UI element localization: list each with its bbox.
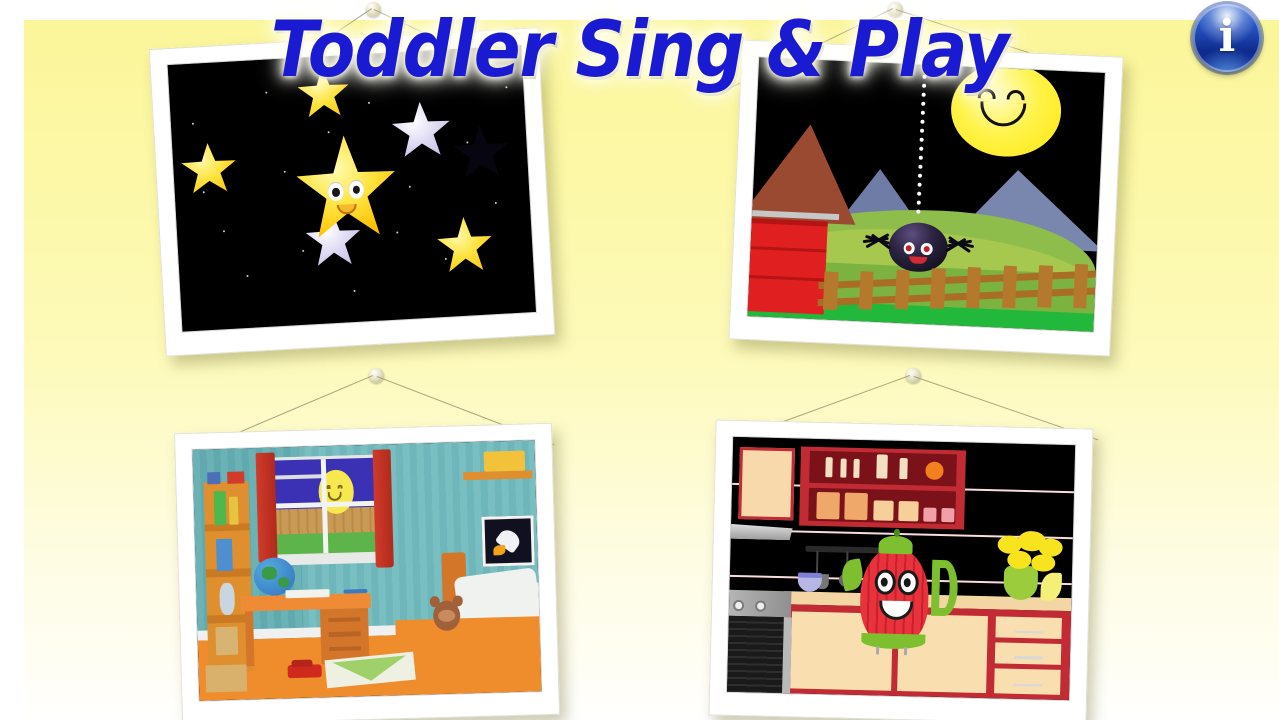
barn-roof (747, 121, 860, 225)
curtain-left (256, 453, 278, 564)
teapot-body (860, 546, 930, 646)
bottle (899, 458, 908, 480)
scene-bedroom (192, 440, 541, 700)
teapot-lid (878, 535, 913, 555)
star-black (451, 124, 511, 183)
waterspout-red (747, 217, 828, 314)
song-card-twinkle-star[interactable] (149, 27, 556, 356)
jar (873, 500, 893, 521)
app-root: i Toddler Sing & Play (0, 0, 1279, 720)
song-card-itsy-bitsy-spider[interactable] (728, 39, 1123, 356)
toy-car (287, 665, 322, 678)
flower-vase (1003, 566, 1038, 600)
stove (727, 590, 791, 617)
jar (941, 508, 954, 523)
drawer (996, 616, 1063, 639)
jar (816, 492, 840, 519)
bottle (876, 454, 888, 479)
song-card-bedroom[interactable] (174, 423, 560, 720)
jar (898, 501, 918, 522)
jar (844, 493, 868, 520)
jar (923, 508, 936, 523)
tea-cup (798, 576, 822, 592)
teapot-character (855, 537, 940, 656)
shelf-toy (219, 582, 235, 615)
smiling-sun (949, 61, 1064, 159)
rocket-poster (482, 516, 535, 568)
flower (1031, 554, 1055, 572)
bottle (840, 458, 847, 478)
scene-sunny-farm (747, 57, 1104, 331)
bedroom-window (268, 455, 380, 558)
smiling-star-character (292, 133, 401, 248)
scene-night-sky (168, 45, 536, 331)
bottle (853, 459, 860, 479)
star-small-left (179, 142, 239, 198)
bed-blanket (396, 616, 542, 695)
star-small-top (295, 66, 351, 122)
flower (1007, 551, 1031, 569)
info-button[interactable]: i (1193, 4, 1261, 72)
cabinet-upper-left (738, 447, 794, 520)
range-hood (727, 523, 793, 540)
song-card-little-teapot[interactable] (708, 419, 1093, 720)
oven (727, 615, 784, 693)
star-small-bottom-right (435, 215, 495, 277)
star-lavender-top (390, 100, 453, 162)
bottle (825, 457, 832, 478)
spider-thread (916, 75, 927, 219)
cabinet-upper-shelf (800, 446, 966, 529)
curtain-right (372, 449, 394, 567)
drawer (994, 668, 1061, 695)
info-icon: i (1219, 15, 1236, 59)
scene-kitchen (727, 437, 1075, 700)
drawer (995, 642, 1062, 665)
